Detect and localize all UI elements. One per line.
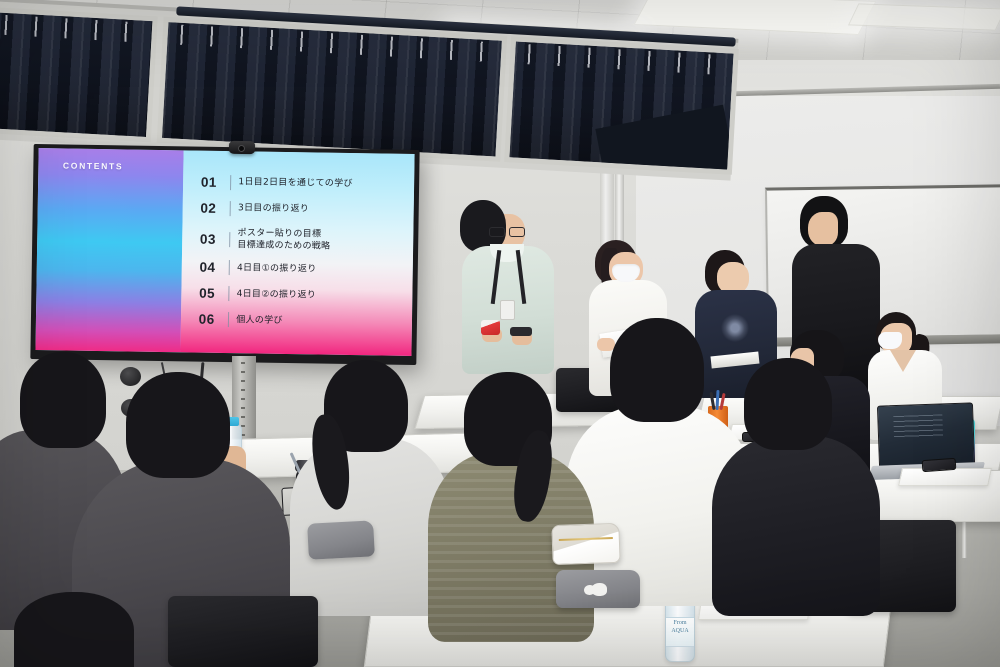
paper-stack <box>898 468 992 486</box>
toc-divider <box>229 232 231 247</box>
chair[interactable] <box>168 596 318 667</box>
face-mask <box>878 332 902 349</box>
toc-number: 02 <box>200 201 222 216</box>
toc-number: 06 <box>199 312 221 327</box>
presenter-man-black-tee <box>800 196 848 248</box>
toc-label: 4日目①の振り返り <box>237 262 317 275</box>
toc-label-multiline: ポスター貼りの目標 目標達成のための戦略 <box>237 227 330 253</box>
slide-table-of-contents: 01 1日目2日目を通じての学び 02 3日目の振り返り 03 ポスター貼りの目 <box>198 175 404 341</box>
face <box>808 212 838 246</box>
slide-left-gradient-panel: CONTENTS <box>35 148 183 352</box>
pouch-blue-gray <box>307 520 375 559</box>
toc-item: 04 4日目①の振り返り <box>199 260 402 278</box>
webcam-icon <box>229 141 255 154</box>
toc-number: 04 <box>199 260 221 275</box>
presenter-woman-white-top <box>595 240 637 284</box>
wall-display[interactable]: CONTENTS 01 1日目2日目を通じての学び 02 3日目の振り返り <box>30 144 419 365</box>
toc-item: 05 4日目②の振り返り <box>199 286 402 304</box>
stand-knob[interactable] <box>120 367 141 386</box>
toc-label: 1日目2日目を通じての学び <box>238 177 353 191</box>
toc-item: 06 個人の学び <box>199 312 402 330</box>
torso-dark-top <box>712 436 880 616</box>
head-back-view <box>14 592 134 667</box>
id-badge <box>500 300 515 320</box>
pouch-zipper[interactable] <box>559 537 613 541</box>
window-curtain <box>157 17 507 162</box>
laptop-screen <box>877 402 975 467</box>
presenter-man-mint-shirt <box>460 200 506 252</box>
presenter-woman-navy-tee <box>705 250 745 294</box>
toc-number: 03 <box>200 231 222 246</box>
head-back-view <box>744 358 832 450</box>
toc-number: 05 <box>199 286 221 301</box>
toc-item: 01 1日目2日目を通じての学び <box>201 175 404 193</box>
held-red-object <box>481 320 500 335</box>
toc-label: 3日目の振り返り <box>238 203 309 216</box>
window-curtain <box>504 36 739 175</box>
toc-divider <box>228 286 230 301</box>
toc-label: 4日目②の振り返り <box>237 288 317 301</box>
bird-graphic-icon <box>591 583 607 596</box>
phone-device[interactable] <box>922 458 957 472</box>
head-back-view <box>610 318 704 422</box>
window-curtain <box>0 7 158 142</box>
pouch-cream <box>551 523 620 565</box>
toc-divider <box>228 260 230 275</box>
toc-divider <box>229 201 231 216</box>
toc-divider <box>230 175 232 190</box>
pencil-pouch-gray-bird <box>556 570 640 608</box>
tee-crest-graphic <box>719 312 751 344</box>
toc-item: 02 3日目の振り返り <box>200 201 403 219</box>
presentation-remote[interactable] <box>510 327 532 336</box>
toc-divider <box>228 312 230 327</box>
classroom-scene: CONTENTS 01 1日目2日目を通じての学び 02 3日目の振り返り <box>0 0 1000 667</box>
display-screen: CONTENTS 01 1日目2日目を通じての学び 02 3日目の振り返り <box>35 148 414 356</box>
slide-section-label: CONTENTS <box>63 160 124 171</box>
toc-label-line1: ポスター貼りの目標 <box>238 228 322 239</box>
head-back-view <box>20 352 106 448</box>
toc-number: 01 <box>201 175 223 190</box>
student-white-shirt-masked <box>876 312 916 352</box>
bottle-label: From AQUA <box>666 617 694 647</box>
head-back-view <box>126 372 230 478</box>
laptop-open[interactable] <box>877 402 975 467</box>
toc-label-line2: 目標達成のための戦略 <box>237 239 330 253</box>
toc-item: 03 ポスター貼りの目標 目標達成のための戦略 <box>200 227 404 254</box>
slide-right-panel: 01 1日目2日目を通じての学び 02 3日目の振り返り 03 ポスター貼りの目 <box>180 150 414 356</box>
toc-label: 個人の学び <box>236 314 283 327</box>
glasses-icon <box>489 227 525 235</box>
